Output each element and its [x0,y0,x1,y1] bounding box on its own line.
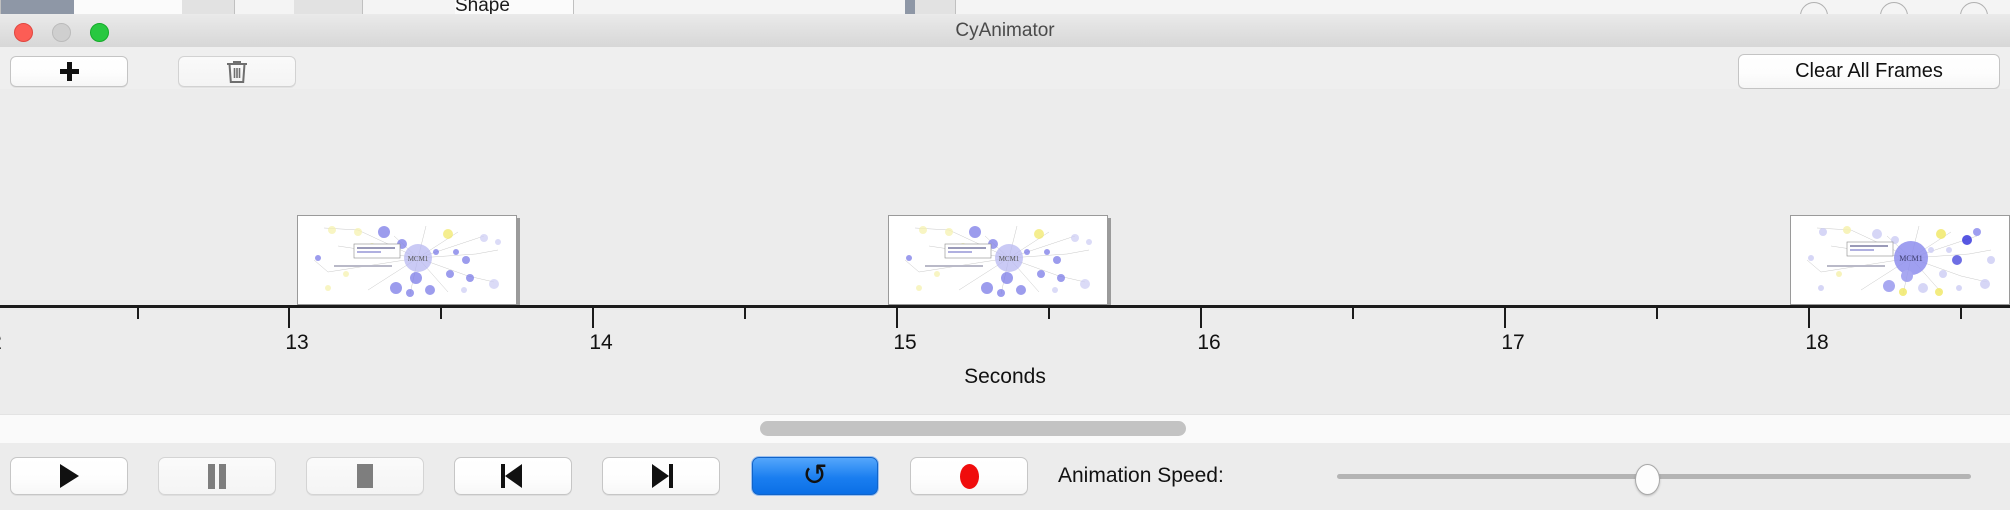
bg-chip [182,0,235,14]
timeline-panel[interactable]: MCM1 [0,89,2010,414]
bg-chip [915,0,956,14]
bg-chip [0,0,75,14]
stop-button[interactable] [306,457,424,495]
toolbar: Clear All Frames [0,47,2010,90]
bg-chip [294,0,363,14]
stop-icon [357,464,373,488]
ruler-tick-major [288,308,290,328]
ruler-tick-minor [1352,308,1354,319]
background-window-label: Shape [455,0,510,15]
ruler-label: 13 [285,331,308,355]
pause-button[interactable] [158,457,276,495]
ruler-label: 16 [1197,331,1220,355]
ruler-label: 17 [1501,331,1524,355]
ruler-tick-major [1200,308,1202,328]
network-thumbnail: MCM1 [889,216,1107,304]
skip-forward-icon [649,464,673,488]
timeline-frame[interactable]: MCM1 [1790,215,2010,305]
timeline-frame[interactable]: MCM1 [297,215,517,305]
plus-icon [60,62,79,81]
playback-bar: ↺ Animation Speed: [0,443,2010,510]
timeline-ruler[interactable]: 2 13 14 15 16 17 18 Seconds [0,305,2010,414]
loop-icon: ↺ [802,461,827,491]
ruler-tick-major [592,308,594,328]
window-title: CyAnimator [0,14,2010,47]
ruler-tick-major [1808,308,1810,328]
background-window-sliver: Shape [0,0,2010,15]
clear-all-frames-button[interactable]: Clear All Frames [1738,54,2000,89]
svg-text:MCM1: MCM1 [1899,254,1923,263]
play-icon [60,464,79,488]
add-frame-button[interactable] [10,56,128,87]
ruler-tick-minor [1048,308,1050,319]
bg-chip [0,0,1,14]
skip-back-icon [501,464,525,488]
skip-to-start-button[interactable] [454,457,572,495]
ruler-label: 15 [893,331,916,355]
record-button[interactable] [910,457,1028,495]
timeline-frame[interactable]: MCM1 [888,215,1108,305]
bg-chip [74,0,183,14]
svg-text:MCM1: MCM1 [408,255,429,263]
pause-icon [206,464,228,489]
network-thumbnail: MCM1 [298,216,516,304]
ruler-tick-minor [744,308,746,319]
ruler-tick-major [896,308,898,328]
ruler-label: 14 [589,331,612,355]
animation-speed-label: Animation Speed: [1058,457,1224,495]
clear-all-frames-label: Clear All Frames [1795,60,1943,83]
record-icon [960,464,979,489]
cyanimator-window: Shape CyAnimator Clear All Frames [0,0,2010,510]
delete-frame-button[interactable] [178,56,296,87]
horizontal-scrollbar[interactable] [0,414,2010,444]
ruler-tick-major [1504,308,1506,328]
ruler-tick-minor [1656,308,1658,319]
ruler-tick-minor [137,308,139,319]
trash-icon [225,59,249,85]
network-thumbnail: MCM1 [1791,216,2009,304]
ruler-tick-minor [440,308,442,319]
skip-to-end-button[interactable] [602,457,720,495]
ruler-tick-minor [1960,308,1962,319]
ruler-label: 2 [0,331,2,355]
axis-title: Seconds [0,365,2010,389]
play-button[interactable] [10,457,128,495]
title-bar: CyAnimator [0,14,2010,48]
animation-speed-knob[interactable] [1635,464,1660,495]
ruler-baseline [0,305,2010,308]
scrollbar-thumb[interactable] [760,421,1186,436]
svg-text:MCM1: MCM1 [999,255,1020,263]
loop-button[interactable]: ↺ [752,457,878,495]
ruler-label: 18 [1805,331,1828,355]
